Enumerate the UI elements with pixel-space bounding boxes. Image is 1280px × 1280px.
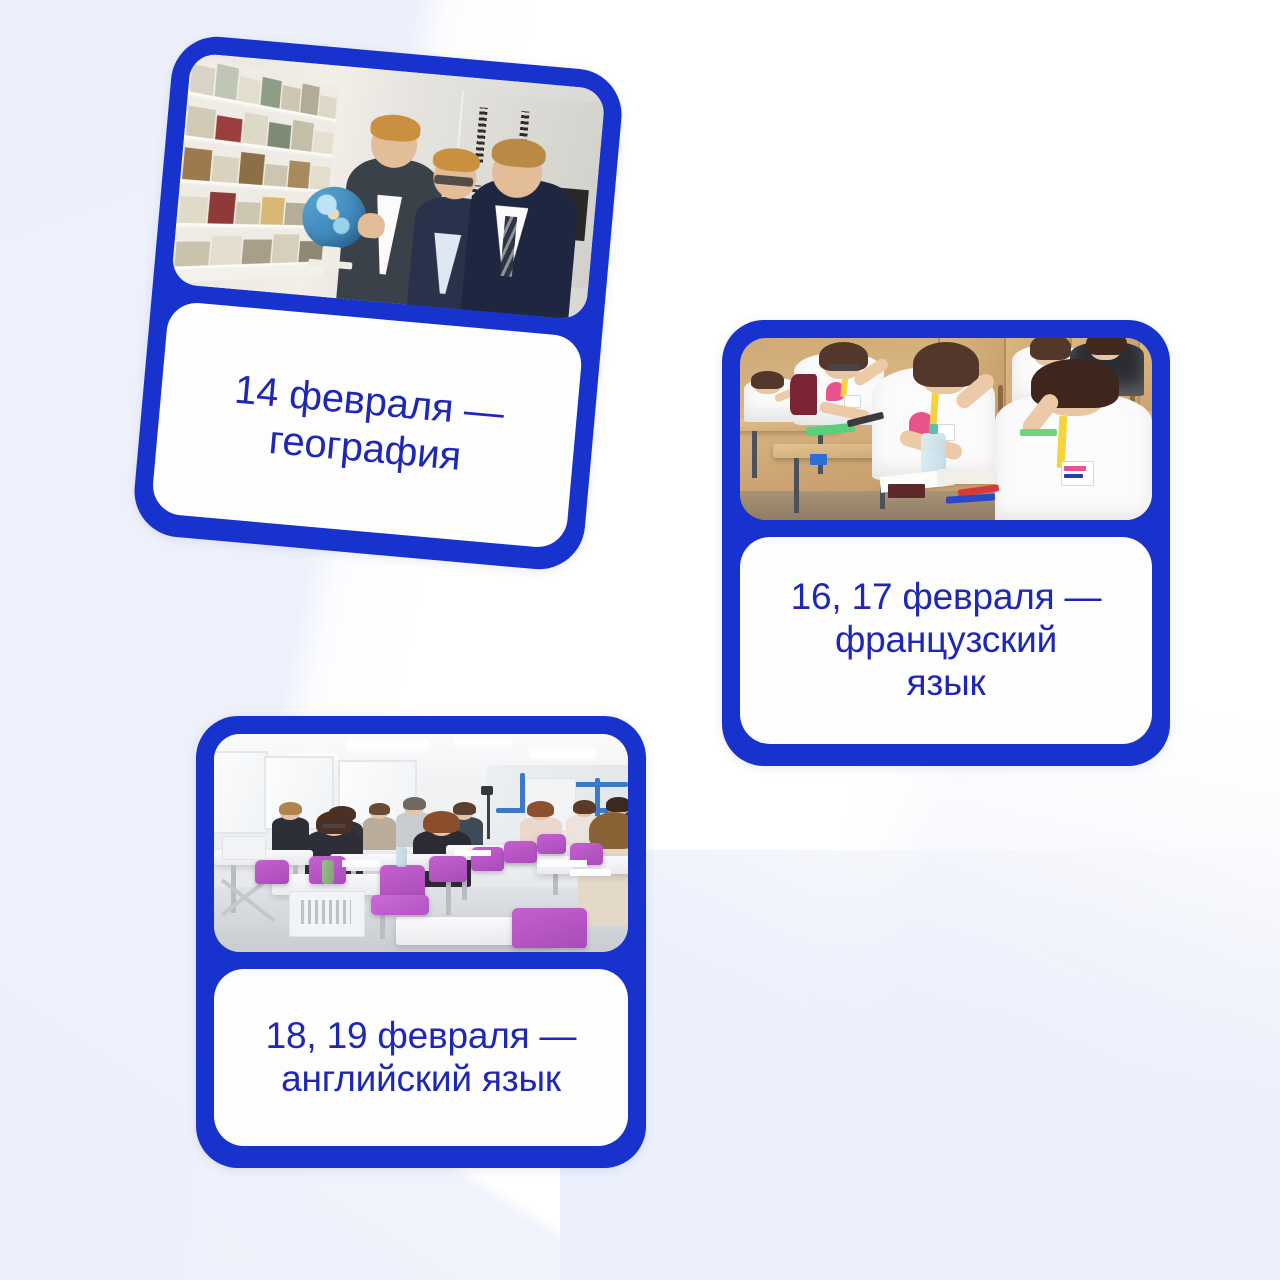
schedule-card-french[interactable]: 16, 17 февраля — французский язык xyxy=(722,320,1170,766)
bookshelf-shape xyxy=(171,52,339,283)
card-caption-french: 16, 17 февраля — французский язык xyxy=(740,537,1152,744)
card-caption-english: 18, 19 февраля — английский язык xyxy=(214,969,628,1146)
classroom-purple-chairs-photo xyxy=(214,734,628,952)
caption-line: французский xyxy=(791,619,1102,662)
caption-line: язык xyxy=(791,662,1102,705)
infographic-canvas: 14 февраля — география xyxy=(0,0,1280,1280)
caption-line: 18, 19 февраля — xyxy=(266,1015,577,1058)
card-caption-geography: 14 февраля — география xyxy=(150,300,583,549)
exam-room-photo xyxy=(740,338,1152,520)
schedule-card-english[interactable]: 18, 19 февраля — английский язык xyxy=(196,716,646,1168)
schedule-card-geography[interactable]: 14 февраля — география xyxy=(131,33,626,573)
caption-line: английский язык xyxy=(266,1058,577,1101)
caption-line: 16, 17 февраля — xyxy=(791,576,1102,619)
background-lavender-bottom-right xyxy=(560,850,1280,1280)
library-globe-photo xyxy=(171,52,606,320)
